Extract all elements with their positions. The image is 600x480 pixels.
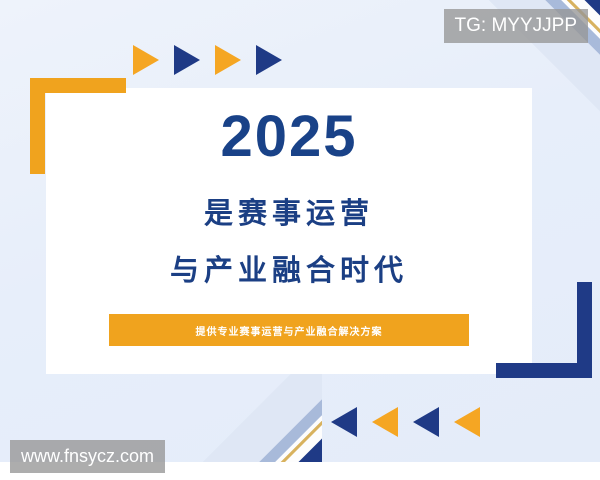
sub-banner-text: 提供专业赛事运营与产业融合解决方案 xyxy=(196,323,383,338)
triangle-left-orange-icon xyxy=(372,407,398,437)
triangle-left-orange-icon xyxy=(454,407,480,437)
triangle-right-navy-icon xyxy=(174,45,200,75)
triangle-right-orange-icon xyxy=(215,45,241,75)
triangle-left-navy-icon xyxy=(331,407,357,437)
corner-bracket-bottom-right xyxy=(496,282,592,378)
bracket-arm-vertical xyxy=(577,282,592,378)
watermark-website: www.fnsycz.com xyxy=(10,440,165,473)
screenshot-canvas: 2025 是赛事运营 与产业融合时代 提供专业赛事运营与产业融合解决方案 xyxy=(0,0,600,480)
triangle-right-navy-icon xyxy=(256,45,282,75)
triangle-right-orange-icon xyxy=(133,45,159,75)
triangle-row-bottom xyxy=(331,407,480,437)
poster-image: 2025 是赛事运营 与产业融合时代 提供专业赛事运营与产业融合解决方案 xyxy=(0,0,600,462)
year-title: 2025 xyxy=(220,108,357,166)
corner-bracket-top-left xyxy=(30,78,126,174)
headline-line-1: 是赛事运营 xyxy=(204,200,374,229)
sub-banner: 提供专业赛事运营与产业融合解决方案 xyxy=(109,314,469,346)
triangle-row-top xyxy=(133,45,282,75)
triangle-left-navy-icon xyxy=(413,407,439,437)
watermark-telegram: TG: MYYJJPP xyxy=(444,9,588,43)
bracket-arm-vertical xyxy=(30,78,45,174)
headline-line-2: 与产业融合时代 xyxy=(170,257,408,286)
